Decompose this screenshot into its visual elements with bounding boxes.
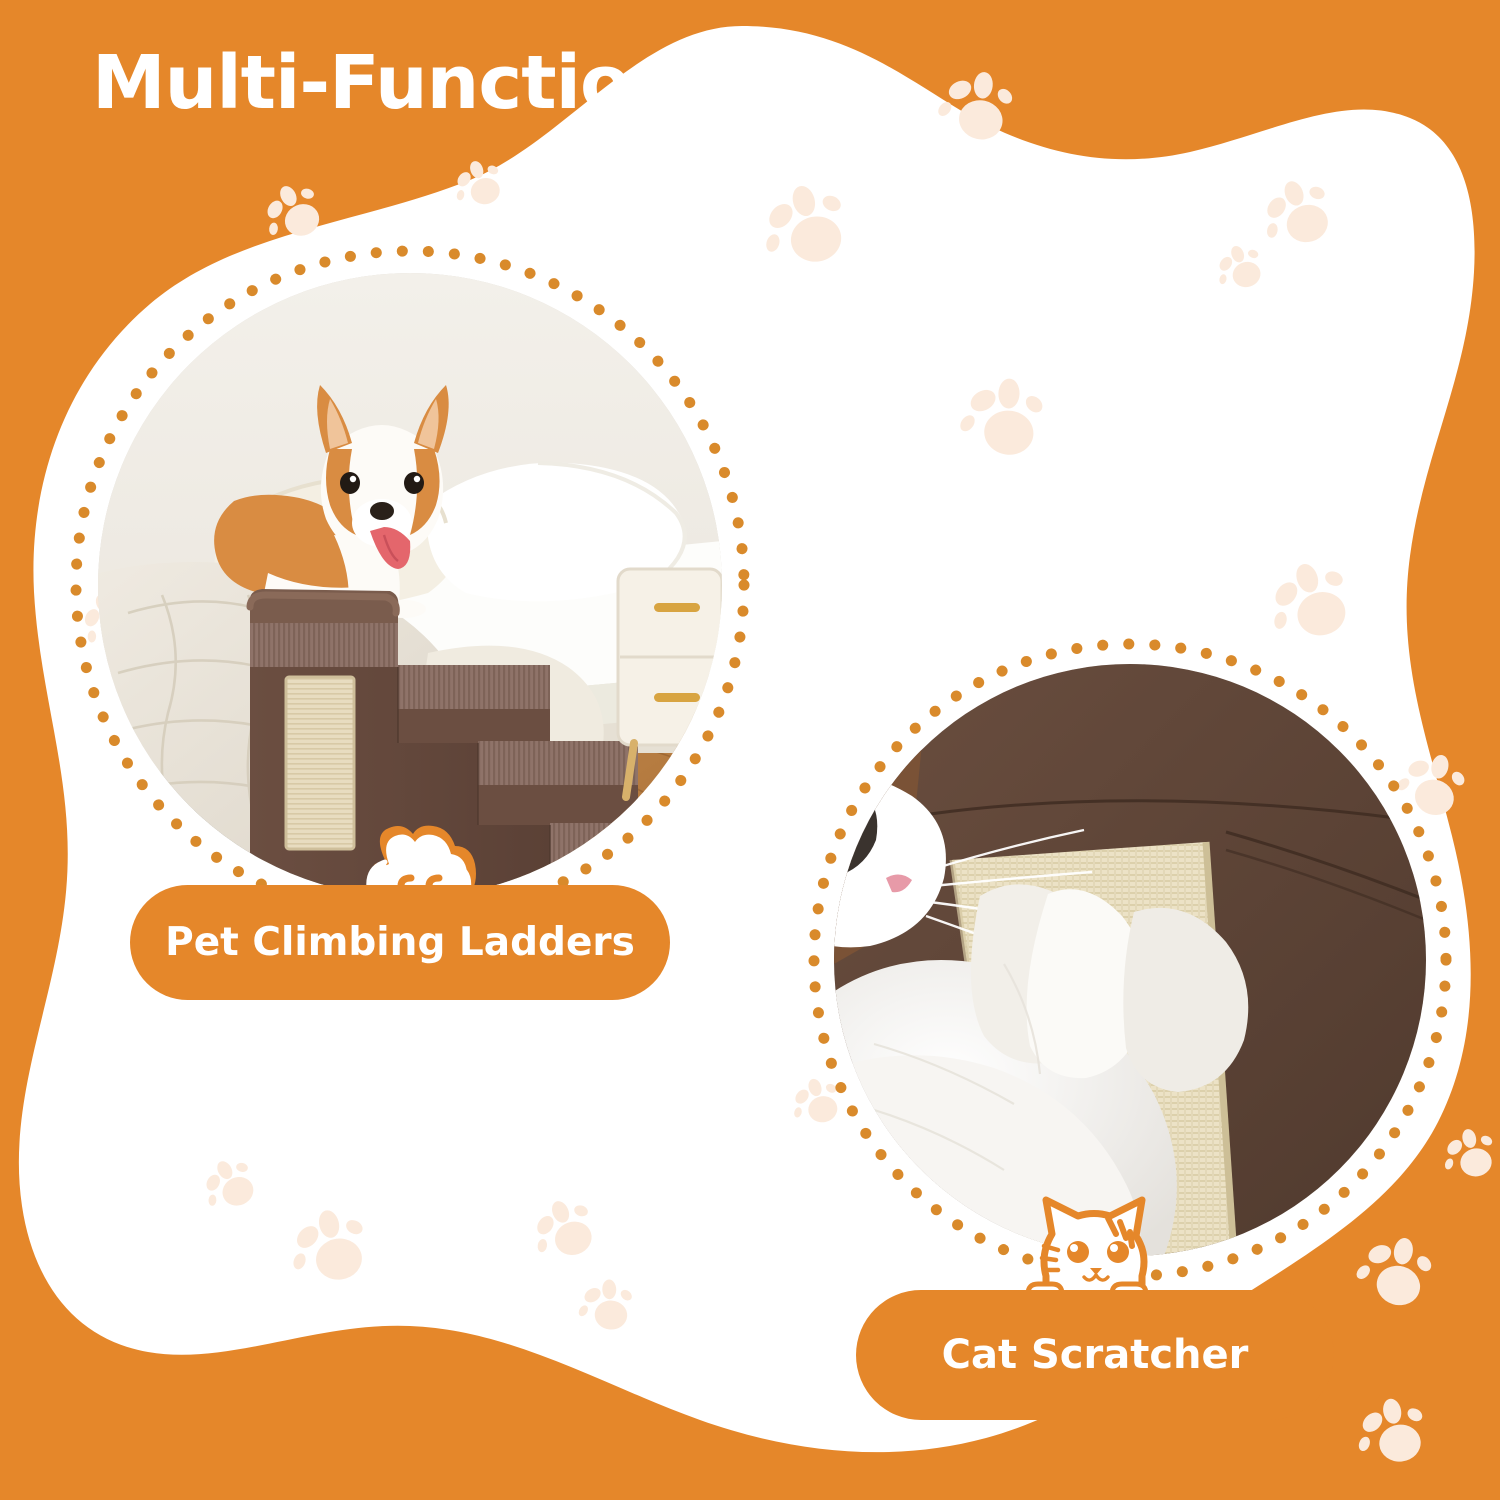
badge-cat-scratcher[interactable]: Cat Scratcher bbox=[856, 1290, 1334, 1420]
panel-pet-climbing-ladders: Pet Climbing Ladders bbox=[60, 235, 760, 935]
badge-pet-climbing-ladders[interactable]: Pet Climbing Ladders bbox=[130, 885, 670, 1000]
photo-pet-climbing-ladders bbox=[98, 273, 722, 897]
photo-cat-scratcher bbox=[834, 664, 1426, 1256]
sisal-scratch-pad bbox=[286, 677, 354, 849]
infographic-canvas: Multi-Function bbox=[0, 0, 1500, 1500]
badge-label: Pet Climbing Ladders bbox=[165, 920, 635, 965]
page-title: Multi-Function bbox=[92, 40, 682, 126]
panel-cat-scratcher: Cat Scratcher bbox=[800, 630, 1460, 1290]
badge-label: Cat Scratcher bbox=[942, 1332, 1249, 1378]
